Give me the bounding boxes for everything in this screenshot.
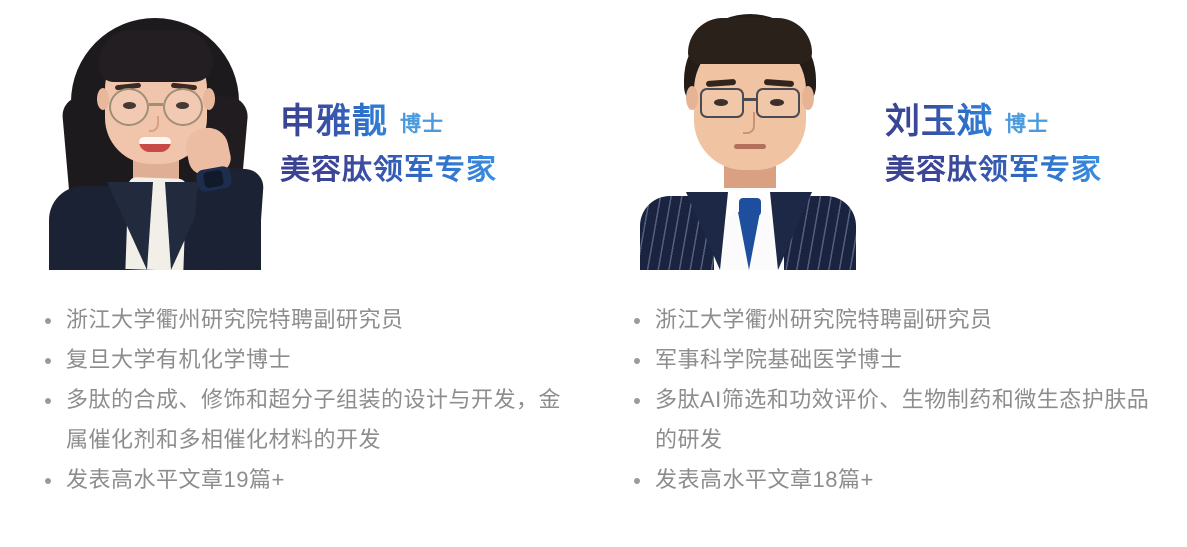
mouth [139,137,171,152]
teeth [139,137,171,144]
expert-card-2: 刘玉斌博士 美容肽领军专家 浙江大学衢州研究院特聘副研究员 军事科学院基础医学博… [593,0,1187,285]
eyeglasses-lens-right [163,88,203,126]
bullet-icon [634,478,640,484]
expert-grid: 申雅靓博士 美容肽领军专家 浙江大学衢州研究院特聘副研究员 复旦大学有机化学博士… [0,0,1187,285]
name-block-1: 申雅靓博士 美容肽领军专家 [280,104,497,185]
eyeglasses-lens-left [109,88,149,126]
eyeglasses-bridge [149,103,163,106]
list-item: 多肽的合成、修饰和超分子组装的设计与开发，金属催化剂和多相催化材料的开发 [42,380,562,460]
bio-text: 发表高水平文章18篇+ [655,467,874,492]
eyeglasses-lens-right [756,88,800,118]
list-item: 复旦大学有机化学博士 [42,340,562,380]
necktie [738,212,760,270]
portrait-illustration-male [638,0,858,270]
portrait-photo-1 [45,0,265,270]
bio-text: 复旦大学有机化学博士 [66,347,291,372]
bio-text: 发表高水平文章19篇+ [66,467,285,492]
name-block-2: 刘玉斌博士 美容肽领军专家 [885,104,1102,185]
bio-list-1: 浙江大学衢州研究院特聘副研究员 复旦大学有机化学博士 多肽的合成、修饰和超分子组… [42,300,562,500]
expert-profiles-board: 申雅靓博士 美容肽领军专家 浙江大学衢州研究院特聘副研究员 复旦大学有机化学博士… [0,0,1187,547]
eyeglasses-bridge [744,98,756,101]
ear-left [97,88,109,110]
list-item: 浙江大学衢州研究院特聘副研究员 [631,300,1151,340]
bullet-icon [45,398,51,404]
bullet-icon [45,358,51,364]
lapel-right [770,192,812,270]
bullet-icon [634,358,640,364]
necktie-knot [739,198,761,216]
ear-left [686,86,698,110]
bio-text: 浙江大学衢州研究院特聘副研究员 [655,307,993,332]
bio-list-2: 浙江大学衢州研究院特聘副研究员 军事科学院基础医学博士 多肽AI筛选和功效评价、… [631,300,1151,500]
bio-text: 浙江大学衢州研究院特聘副研究员 [66,307,404,332]
bio-text: 多肽的合成、修饰和超分子组装的设计与开发，金属催化剂和多相催化材料的开发 [66,387,561,452]
expert-title-1: 美容肽领军专家 [280,155,497,185]
bullet-icon [45,318,51,324]
bio-text: 多肽AI筛选和功效评价、生物制药和微生态护肤品的研发 [655,387,1149,452]
list-item: 发表高水平文章19篇+ [42,460,562,500]
expert-header-2: 刘玉斌博士 美容肽领军专家 [593,0,1187,285]
name-line-2: 刘玉斌博士 [885,104,1102,139]
list-item: 发表高水平文章18篇+ [631,460,1151,500]
bullet-icon [634,398,640,404]
eyeglasses-lens-left [700,88,744,118]
expert-header-1: 申雅靓博士 美容肽领军专家 [0,0,593,285]
lapel-left [107,182,153,270]
portrait-illustration-female [45,0,265,270]
bullet-icon [634,318,640,324]
expert-degree-1: 博士 [400,113,444,136]
smartwatch-face [203,169,224,188]
hair-top [688,18,812,64]
expert-name-1: 申雅靓 [280,102,388,141]
portrait-photo-2 [638,0,858,270]
hair-fringe [99,30,213,82]
name-line-1: 申雅靓博士 [280,104,497,139]
bullet-icon [45,478,51,484]
expert-title-2: 美容肽领军专家 [885,155,1102,185]
bio-text: 军事科学院基础医学博士 [655,347,903,372]
expert-degree-2: 博士 [1005,113,1049,136]
ear-right [203,88,215,110]
list-item: 军事科学院基础医学博士 [631,340,1151,380]
list-item: 浙江大学衢州研究院特聘副研究员 [42,300,562,340]
expert-card-1: 申雅靓博士 美容肽领军专家 浙江大学衢州研究院特聘副研究员 复旦大学有机化学博士… [0,0,593,285]
mouth [734,144,766,149]
expert-name-2: 刘玉斌 [885,102,993,141]
ear-right [802,86,814,110]
list-item: 多肽AI筛选和功效评价、生物制药和微生态护肤品的研发 [631,380,1151,460]
lapel-left [686,192,728,270]
nose [743,112,755,134]
